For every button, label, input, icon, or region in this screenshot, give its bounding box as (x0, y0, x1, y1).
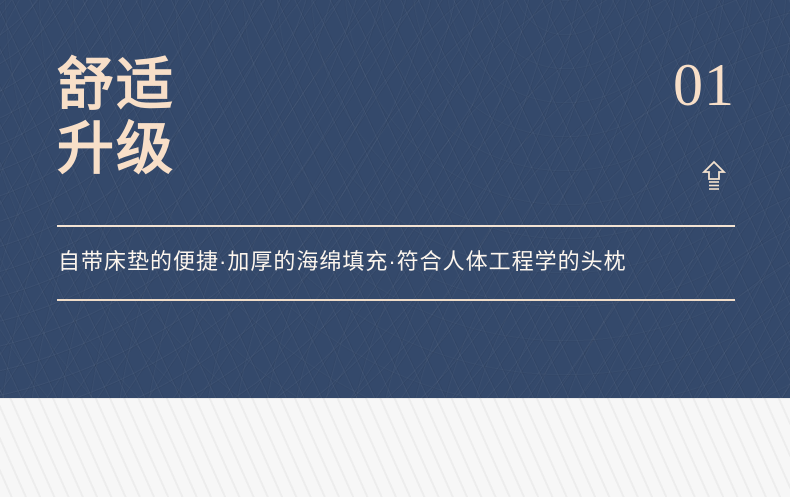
headline-line-2: 升级 (57, 117, 377, 181)
section-index-number: 01 (673, 54, 735, 116)
promo-banner: 舒适 升级 01 自带床垫的便捷·加厚的海绵填充·符合人体工程学的头枕 (0, 0, 790, 497)
arrow-up-icon (699, 158, 729, 192)
headline-line-1: 舒适 (57, 53, 377, 117)
diagonal-stripe-texture (0, 398, 790, 497)
subtitle-text: 自带床垫的便捷·加厚的海绵填充·符合人体工程学的头枕 (58, 247, 627, 277)
panel-seam (0, 398, 790, 399)
striped-footer-panel (0, 398, 790, 497)
headline-block: 舒适 升级 (57, 53, 377, 181)
divider-bottom (57, 299, 735, 301)
divider-top (57, 225, 735, 227)
